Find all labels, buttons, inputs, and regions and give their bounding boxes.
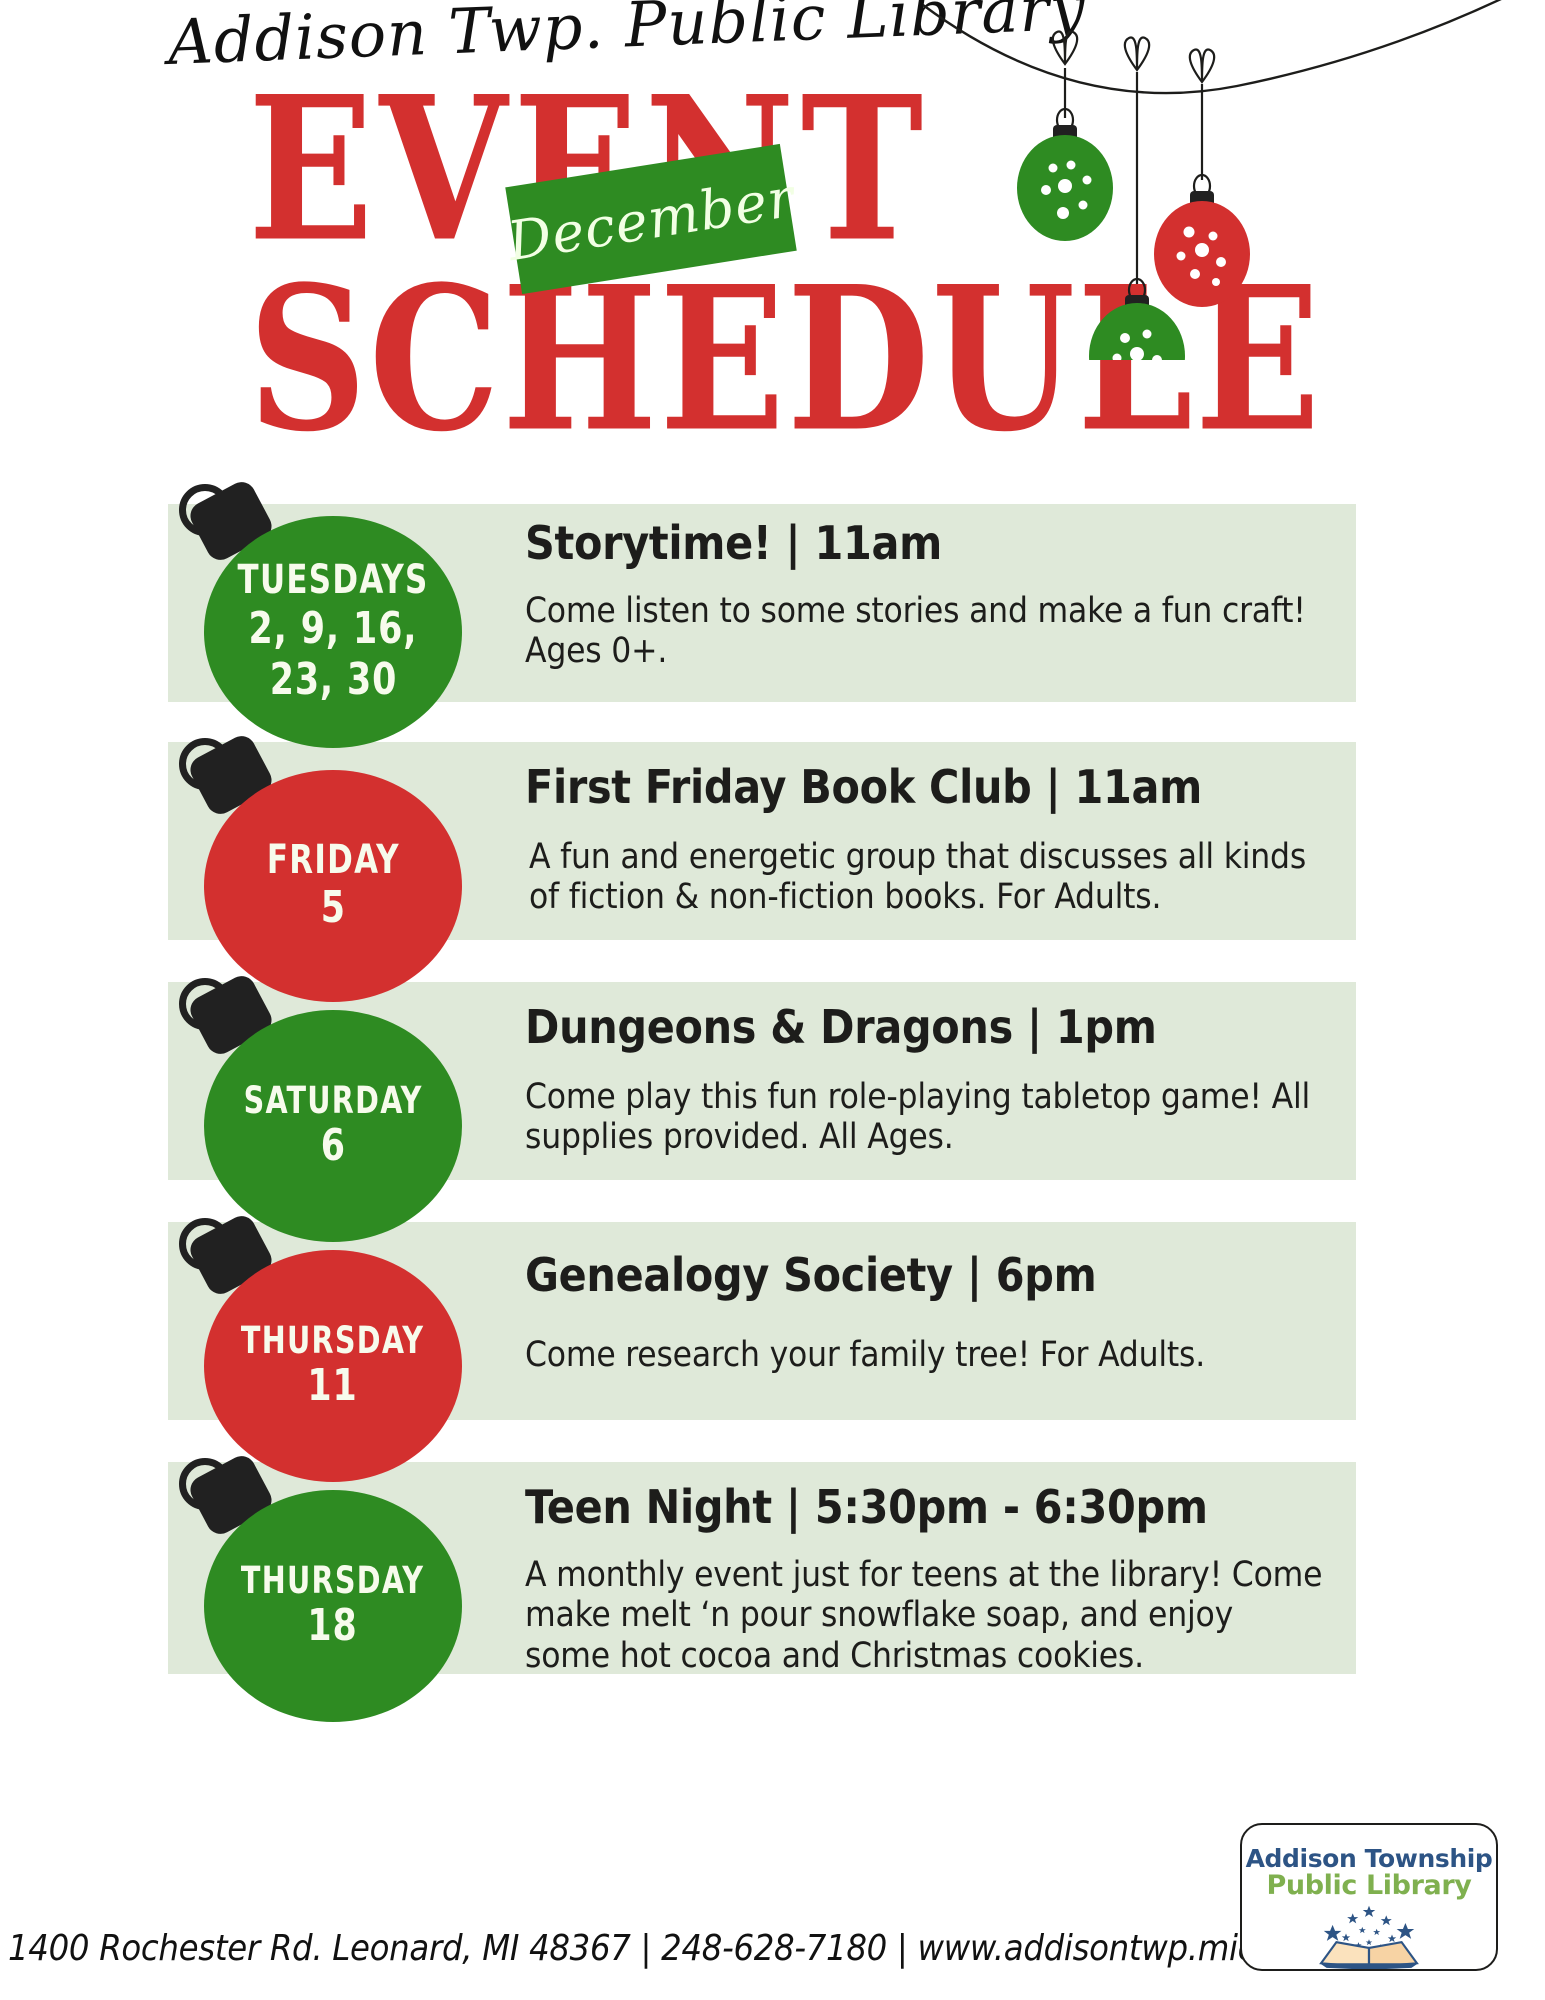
ornament-bow-icon bbox=[1125, 37, 1149, 70]
badge-dates-label: 11 bbox=[308, 1362, 358, 1410]
event-description-line: Ages 0+. bbox=[525, 631, 1345, 672]
logo-line-public-library: Public Library bbox=[1267, 1872, 1472, 1899]
event-text-block: Storytime! | 11am Come listen to some st… bbox=[525, 518, 1345, 672]
badge-day-label: TUESDAYS bbox=[237, 560, 428, 602]
event-row[interactable]: FRIDAY 5 First Friday Book Club | 11am A… bbox=[0, 736, 1545, 954]
badge-dates-line1: 2, 9, 16, bbox=[249, 604, 418, 653]
ornament-ball: SATURDAY 6 bbox=[204, 1010, 462, 1242]
event-title: Storytime! | 11am bbox=[525, 518, 1345, 569]
ornament-ball: THURSDAY 18 bbox=[204, 1490, 462, 1722]
event-date-badge: SATURDAY 6 bbox=[172, 976, 452, 1194]
event-list: TUESDAYS 2, 9, 16, 23, 30 Storytime! | 1… bbox=[0, 498, 1545, 1710]
month-banner-label: December bbox=[503, 165, 798, 272]
event-description-line: some hot cocoa and Christmas cookies. bbox=[525, 1636, 1345, 1677]
event-schedule-poster: Addison Twp. Public Library EVENT SCHEDU… bbox=[0, 0, 1545, 2000]
event-date-badge: TUESDAYS 2, 9, 16, 23, 30 bbox=[172, 482, 452, 698]
event-text-block: First Friday Book Club | 11am A fun and … bbox=[525, 762, 1345, 918]
event-description-line: Come research your family tree! For Adul… bbox=[525, 1335, 1345, 1376]
event-text-block: Genealogy Society | 6pm Come research yo… bbox=[525, 1250, 1345, 1375]
event-description-line: supplies provided. All Ages. bbox=[525, 1117, 1345, 1158]
event-date-badge: THURSDAY 18 bbox=[172, 1456, 452, 1688]
event-description-line: of fiction & non-fiction books. For Adul… bbox=[529, 877, 1345, 918]
badge-dates-line2: 23, 30 bbox=[269, 655, 397, 704]
event-title: Dungeons & Dragons | 1pm bbox=[525, 1002, 1345, 1053]
ornament-red-right bbox=[1154, 49, 1250, 307]
event-title: First Friday Book Club | 11am bbox=[525, 762, 1345, 813]
event-date-badge: FRIDAY 5 bbox=[172, 736, 452, 954]
badge-day-label: THURSDAY bbox=[241, 1322, 424, 1360]
event-row[interactable]: THURSDAY 11 Genealogy Society | 6pm Come… bbox=[0, 1216, 1545, 1434]
event-description-line: make melt ‘n pour snowflake soap, and en… bbox=[525, 1595, 1345, 1636]
event-description: A monthly event just for teens at the li… bbox=[525, 1555, 1345, 1677]
event-date-badge: THURSDAY 11 bbox=[172, 1216, 452, 1434]
event-title: Genealogy Society | 6pm bbox=[525, 1250, 1345, 1301]
event-description: Come listen to some stories and make a f… bbox=[525, 591, 1345, 672]
event-description-line: Come listen to some stories and make a f… bbox=[525, 591, 1345, 632]
badge-day-label: SATURDAY bbox=[243, 1082, 422, 1120]
badge-dates-label: 6 bbox=[320, 1122, 345, 1170]
badge-day-label: THURSDAY bbox=[241, 1562, 424, 1600]
event-description-line: A fun and energetic group that discusses… bbox=[529, 837, 1345, 878]
event-description: Come play this fun role-playing tabletop… bbox=[525, 1077, 1345, 1158]
badge-dates-label: 18 bbox=[308, 1602, 358, 1650]
ornament-ball: FRIDAY 5 bbox=[204, 770, 462, 1002]
ornament-ball: THURSDAY 11 bbox=[204, 1250, 462, 1482]
event-description-line: A monthly event just for teens at the li… bbox=[525, 1555, 1345, 1596]
badge-day-label: FRIDAY bbox=[266, 840, 399, 882]
footer-contact-info: 1400 Rochester Rd. Leonard, MI 48367 | 2… bbox=[8, 1928, 1437, 1969]
event-text-block: Teen Night | 5:30pm - 6:30pm A monthly e… bbox=[525, 1482, 1345, 1676]
event-description: Come research your family tree! For Adul… bbox=[525, 1335, 1345, 1376]
event-row[interactable]: TUESDAYS 2, 9, 16, 23, 30 Storytime! | 1… bbox=[0, 498, 1545, 714]
poster-header: Addison Twp. Public Library EVENT SCHEDU… bbox=[0, 0, 1545, 480]
event-row[interactable]: SATURDAY 6 Dungeons & Dragons | 1pm Come… bbox=[0, 976, 1545, 1194]
ornament-green-left bbox=[1017, 31, 1113, 241]
event-text-block: Dungeons & Dragons | 1pm Come play this … bbox=[525, 1002, 1345, 1158]
library-logo[interactable]: Addison Township Public Library bbox=[1240, 1823, 1498, 1971]
ornament-bow-icon bbox=[1190, 49, 1214, 82]
ornament-bow-icon bbox=[1053, 31, 1077, 64]
ornament-ball: TUESDAYS 2, 9, 16, 23, 30 bbox=[204, 516, 462, 748]
badge-dates-label: 5 bbox=[320, 884, 345, 932]
hanging-string bbox=[923, 0, 1545, 93]
hanging-ornaments-decoration bbox=[865, 0, 1545, 360]
event-description-line: Come play this fun role-playing tabletop… bbox=[525, 1077, 1345, 1118]
open-book-with-stars-icon bbox=[1295, 1900, 1443, 1969]
logo-line-township: Addison Township bbox=[1246, 1846, 1493, 1871]
event-description: A fun and energetic group that discusses… bbox=[529, 837, 1345, 918]
event-row[interactable]: THURSDAY 18 Teen Night | 5:30pm - 6:30pm… bbox=[0, 1456, 1545, 1688]
event-title: Teen Night | 5:30pm - 6:30pm bbox=[525, 1482, 1345, 1533]
